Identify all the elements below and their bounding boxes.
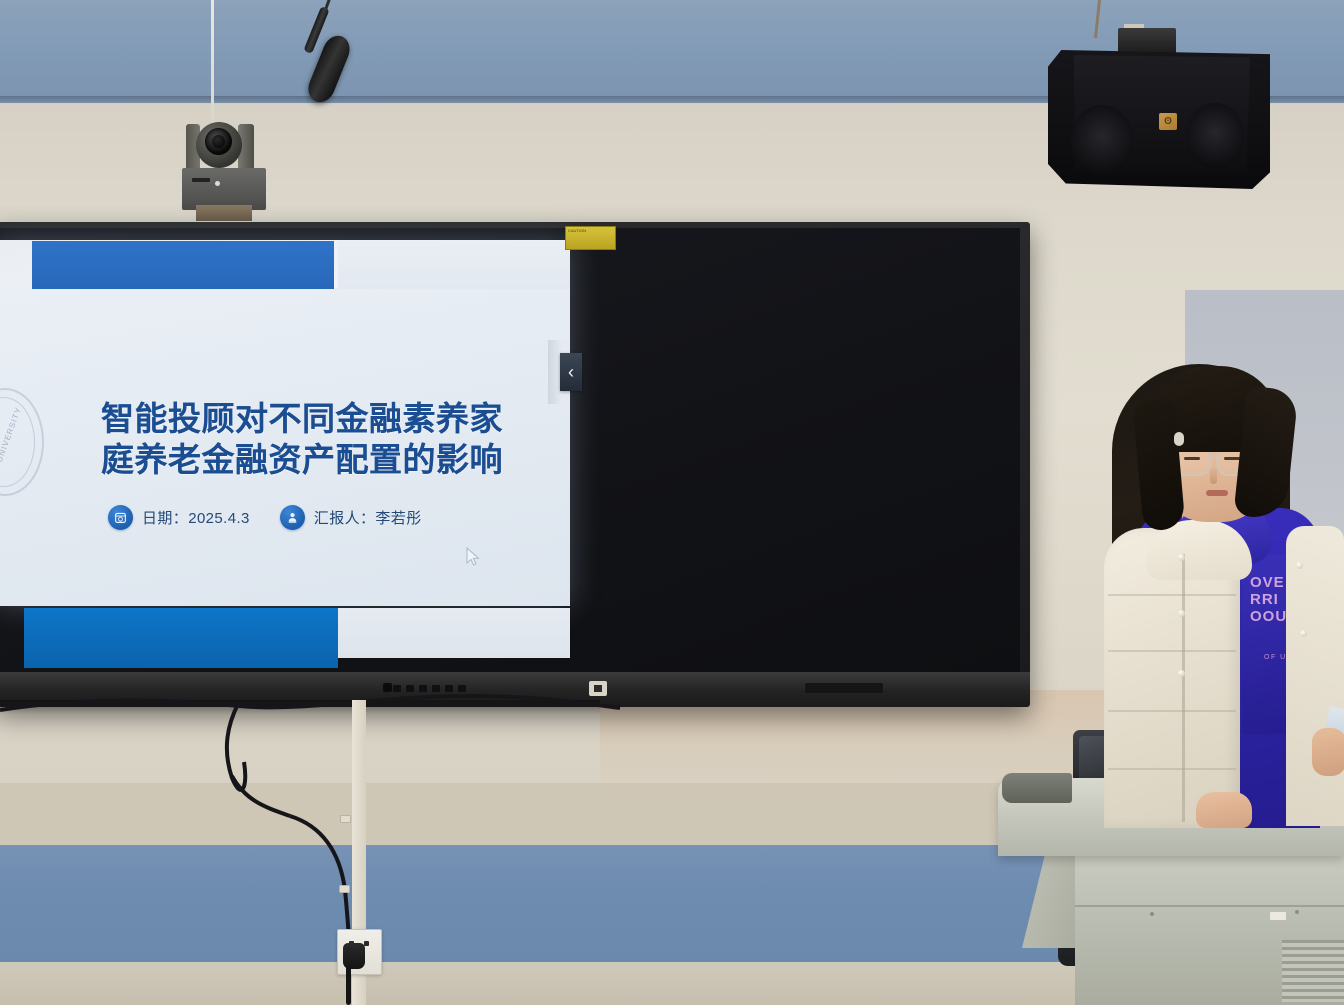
camera-lens-inner — [212, 135, 225, 148]
presenter: OVE RRI OOU OF U — [1090, 358, 1344, 828]
vest-snap — [1296, 562, 1303, 569]
camera-port-slot — [192, 178, 210, 182]
earbud-icon — [1174, 432, 1184, 446]
lectern-screw — [1295, 910, 1299, 914]
camera-bracket — [182, 168, 266, 210]
slide-meta-row: 日期：2025.4.3 汇报人：李若彤 — [108, 505, 422, 530]
presenter-vest-right — [1286, 526, 1344, 826]
wall-cable-run — [0, 690, 620, 970]
slide-accent-band-bottom — [24, 608, 338, 668]
lectern-label-sticker — [1270, 912, 1286, 920]
presenter-nose — [1210, 466, 1217, 484]
classroom-presentation-scene: ʘ UNIVERSITY 智能投顾对不同金融素养家 庭养老金融资产配置的影响 日… — [0, 0, 1344, 1005]
slide-accent-band-top — [32, 241, 334, 289]
vest-snap — [1300, 630, 1307, 637]
slide-meta-presenter: 汇报人：李若彤 — [280, 505, 422, 530]
slide-date-label: 日期：2025.4.3 — [142, 507, 250, 528]
lectern-vent-grille — [1282, 940, 1344, 1002]
presenter-icon — [280, 505, 305, 530]
lectern-handle[interactable] — [1002, 773, 1072, 803]
vest-snap — [1178, 670, 1185, 677]
speaker-bracket — [1118, 28, 1176, 54]
plug-cord — [346, 965, 351, 1005]
slide-presenter-label: 汇报人：李若彤 — [314, 507, 422, 528]
camera-wall-mount — [196, 205, 252, 221]
lectern-panel-seam — [1075, 905, 1344, 907]
panel-speaker-slot — [805, 683, 883, 693]
speaker-cone-left — [1071, 105, 1133, 175]
presenter-hand-right — [1312, 728, 1344, 776]
speaker-cone-right — [1186, 103, 1244, 169]
back-chevron-button[interactable]: ‹ — [560, 353, 582, 391]
lectern-screw — [1150, 912, 1154, 916]
slide-title-line-2: 庭养老金融资产配置的影响 — [52, 439, 552, 480]
vest-center-seam — [1182, 554, 1185, 822]
outlet-hole — [364, 941, 369, 946]
speaker-brand-badge: ʘ — [1159, 113, 1177, 130]
cable-clip — [339, 885, 350, 893]
vest-snap — [1178, 610, 1185, 617]
slide-title: 智能投顾对不同金融素养家 庭养老金融资产配置的影响 — [52, 398, 552, 480]
vest-quilt-line — [1108, 710, 1236, 712]
cable-clip — [340, 815, 351, 823]
camera-cable — [211, 0, 214, 128]
vest-quilt-line — [1108, 594, 1236, 596]
slide-title-line-1: 智能投顾对不同金融素养家 — [52, 398, 552, 439]
calendar-icon — [108, 505, 133, 530]
vest-quilt-line — [1108, 768, 1236, 770]
arrow-cursor — [466, 547, 480, 567]
vest-quilt-line — [1108, 650, 1236, 652]
shirt-text-sub: OF U — [1264, 654, 1287, 661]
presenter-mouth — [1206, 490, 1228, 496]
panel-warning-sticker: CAUTION — [565, 226, 616, 250]
eyeglasses-bridge — [1207, 455, 1217, 457]
slide-meta-date: 日期：2025.4.3 — [108, 505, 250, 530]
slide-bottom-right-fill — [338, 608, 570, 658]
vest-snap — [1178, 554, 1185, 561]
presenter-hand-left — [1196, 792, 1252, 828]
slide-top-right-fill — [338, 241, 570, 289]
camera-status-led — [215, 181, 220, 186]
